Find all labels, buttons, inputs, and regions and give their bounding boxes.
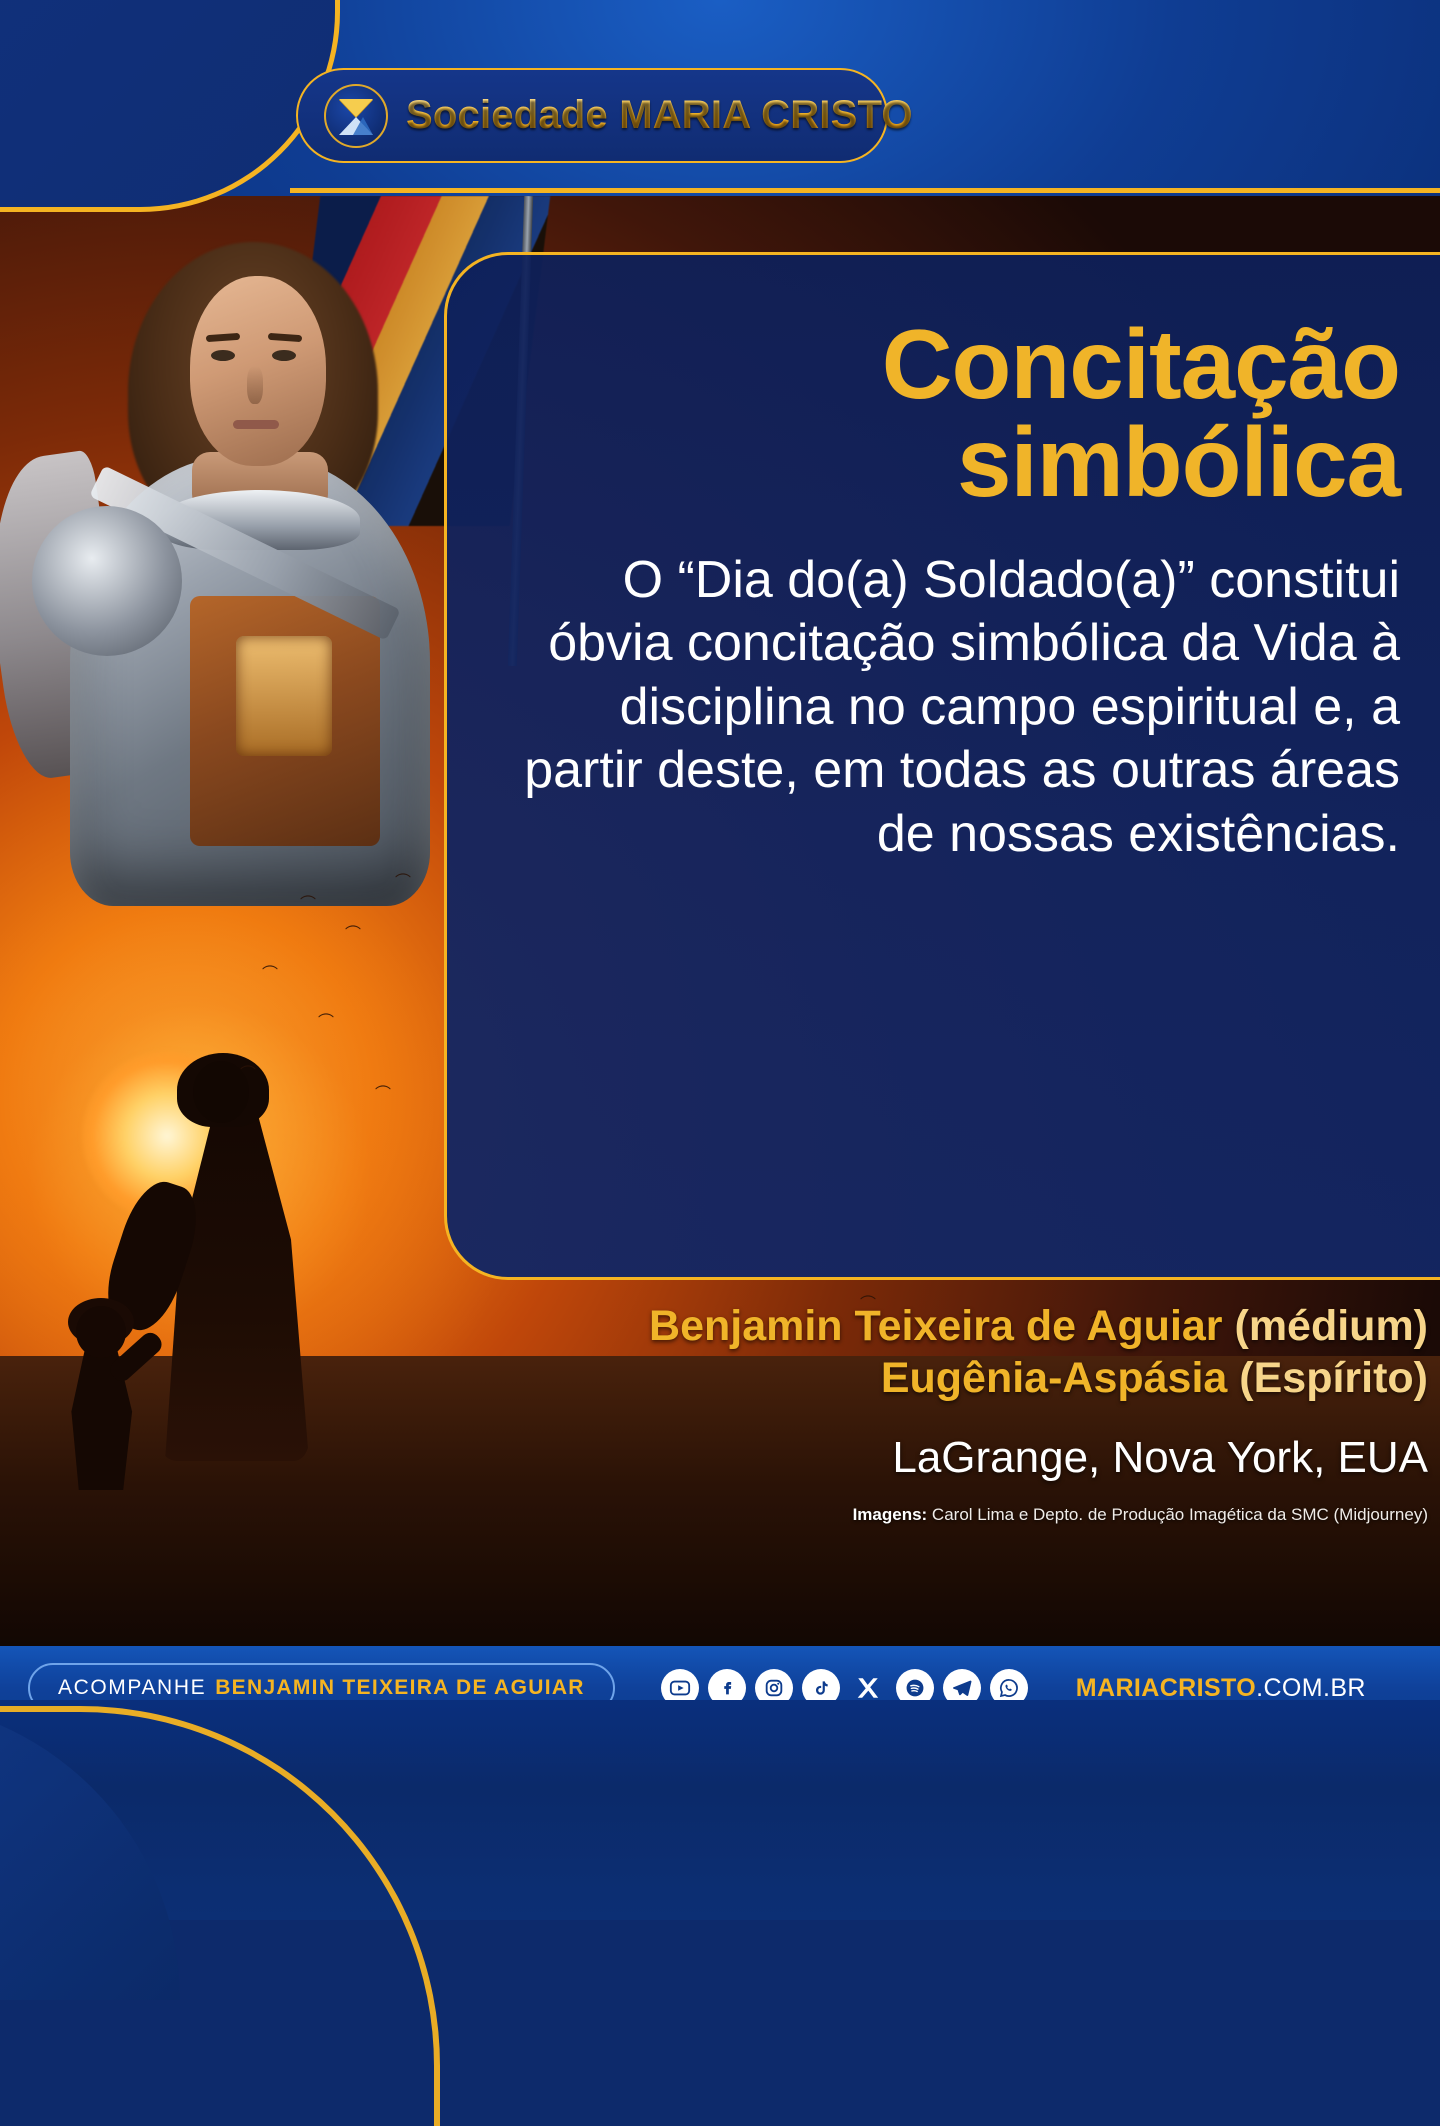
brand-title: Sociedade MARIA CRISTO <box>406 93 913 138</box>
brand-name: MARIA CRISTO <box>619 93 913 137</box>
image-credit-value: Carol Lima e Depto. de Produção Imagétic… <box>927 1505 1428 1524</box>
spirit-role: (Espírito) <box>1227 1354 1428 1402</box>
brand-pill[interactable]: Sociedade MARIA CRISTO <box>296 68 888 163</box>
hourglass-diamond-logo-icon <box>324 84 388 148</box>
header-gold-rule <box>290 188 1440 193</box>
location-text: LaGrange, Nova York, EUA <box>300 1433 1428 1483</box>
logo-triangle-top <box>339 99 373 117</box>
figure-eye-right <box>272 350 296 361</box>
quote-body-text: O “Dia do(a) Soldado(a)” constitui óbvia… <box>507 549 1400 866</box>
bird-icon: ︵ <box>240 1056 256 1072</box>
quote-panel: Concitação simbólica O “Dia do(a) Soldad… <box>444 252 1440 1280</box>
title-line-2: simbólica <box>507 413 1400 511</box>
title-line-1: Concitação <box>507 315 1400 413</box>
bird-icon: ︵ <box>345 916 361 932</box>
bird-icon: ︵ <box>318 1004 334 1020</box>
silhouette-woman-body <box>159 1115 309 1461</box>
knight-figure <box>40 206 460 906</box>
author-role: (médium) <box>1223 1302 1428 1350</box>
brand-prefix: Sociedade <box>406 93 619 137</box>
poster-canvas: ︵ ︵ ︵ ︵ ︵ ︵ ︵ ︵ ︵ Sociedade MARIA CRISTO… <box>0 0 1440 1920</box>
image-credit-label: Imagens: <box>853 1505 928 1524</box>
follow-prefix: ACOMPANHE <box>58 1676 206 1700</box>
spirit-credit-line: Eugênia-Aspásia (Espírito) <box>300 1352 1428 1404</box>
figure-pauldron <box>32 506 182 656</box>
figure-mouth <box>233 420 279 429</box>
figure-emblem <box>236 636 332 756</box>
bird-icon: ︵ <box>395 864 411 880</box>
figure-eye-left <box>211 350 235 361</box>
website-url[interactable]: MARIACRISTO.COM.BR <box>1076 1674 1366 1703</box>
bird-icon: ︵ <box>375 1076 391 1092</box>
image-credit-line: Imagens: Carol Lima e Depto. de Produção… <box>300 1505 1428 1525</box>
author-credit-line: Benjamin Teixeira de Aguiar (médium) <box>300 1300 1428 1352</box>
author-name: Benjamin Teixeira de Aguiar <box>649 1302 1223 1350</box>
follow-name: BENJAMIN TEIXEIRA DE AGUIAR <box>215 1676 585 1700</box>
header-corner-gold-line <box>0 0 340 212</box>
page-title: Concitação simbólica <box>507 315 1400 511</box>
header: Sociedade MARIA CRISTO <box>0 0 1440 196</box>
logo-triangle-bottom-accent <box>353 117 373 135</box>
website-brand: MARIACRISTO <box>1076 1674 1256 1702</box>
silhouette-child <box>50 1306 160 1486</box>
figure-nose <box>247 366 263 404</box>
silhouette-child-head <box>76 1306 126 1358</box>
spirit-name: Eugênia-Aspásia <box>881 1354 1228 1402</box>
website-tld: .COM.BR <box>1256 1674 1366 1702</box>
bird-icon: ︵ <box>300 886 316 902</box>
bird-icon: ︵ <box>262 956 278 972</box>
credits-block: Benjamin Teixeira de Aguiar (médium) Eug… <box>300 1300 1440 1525</box>
